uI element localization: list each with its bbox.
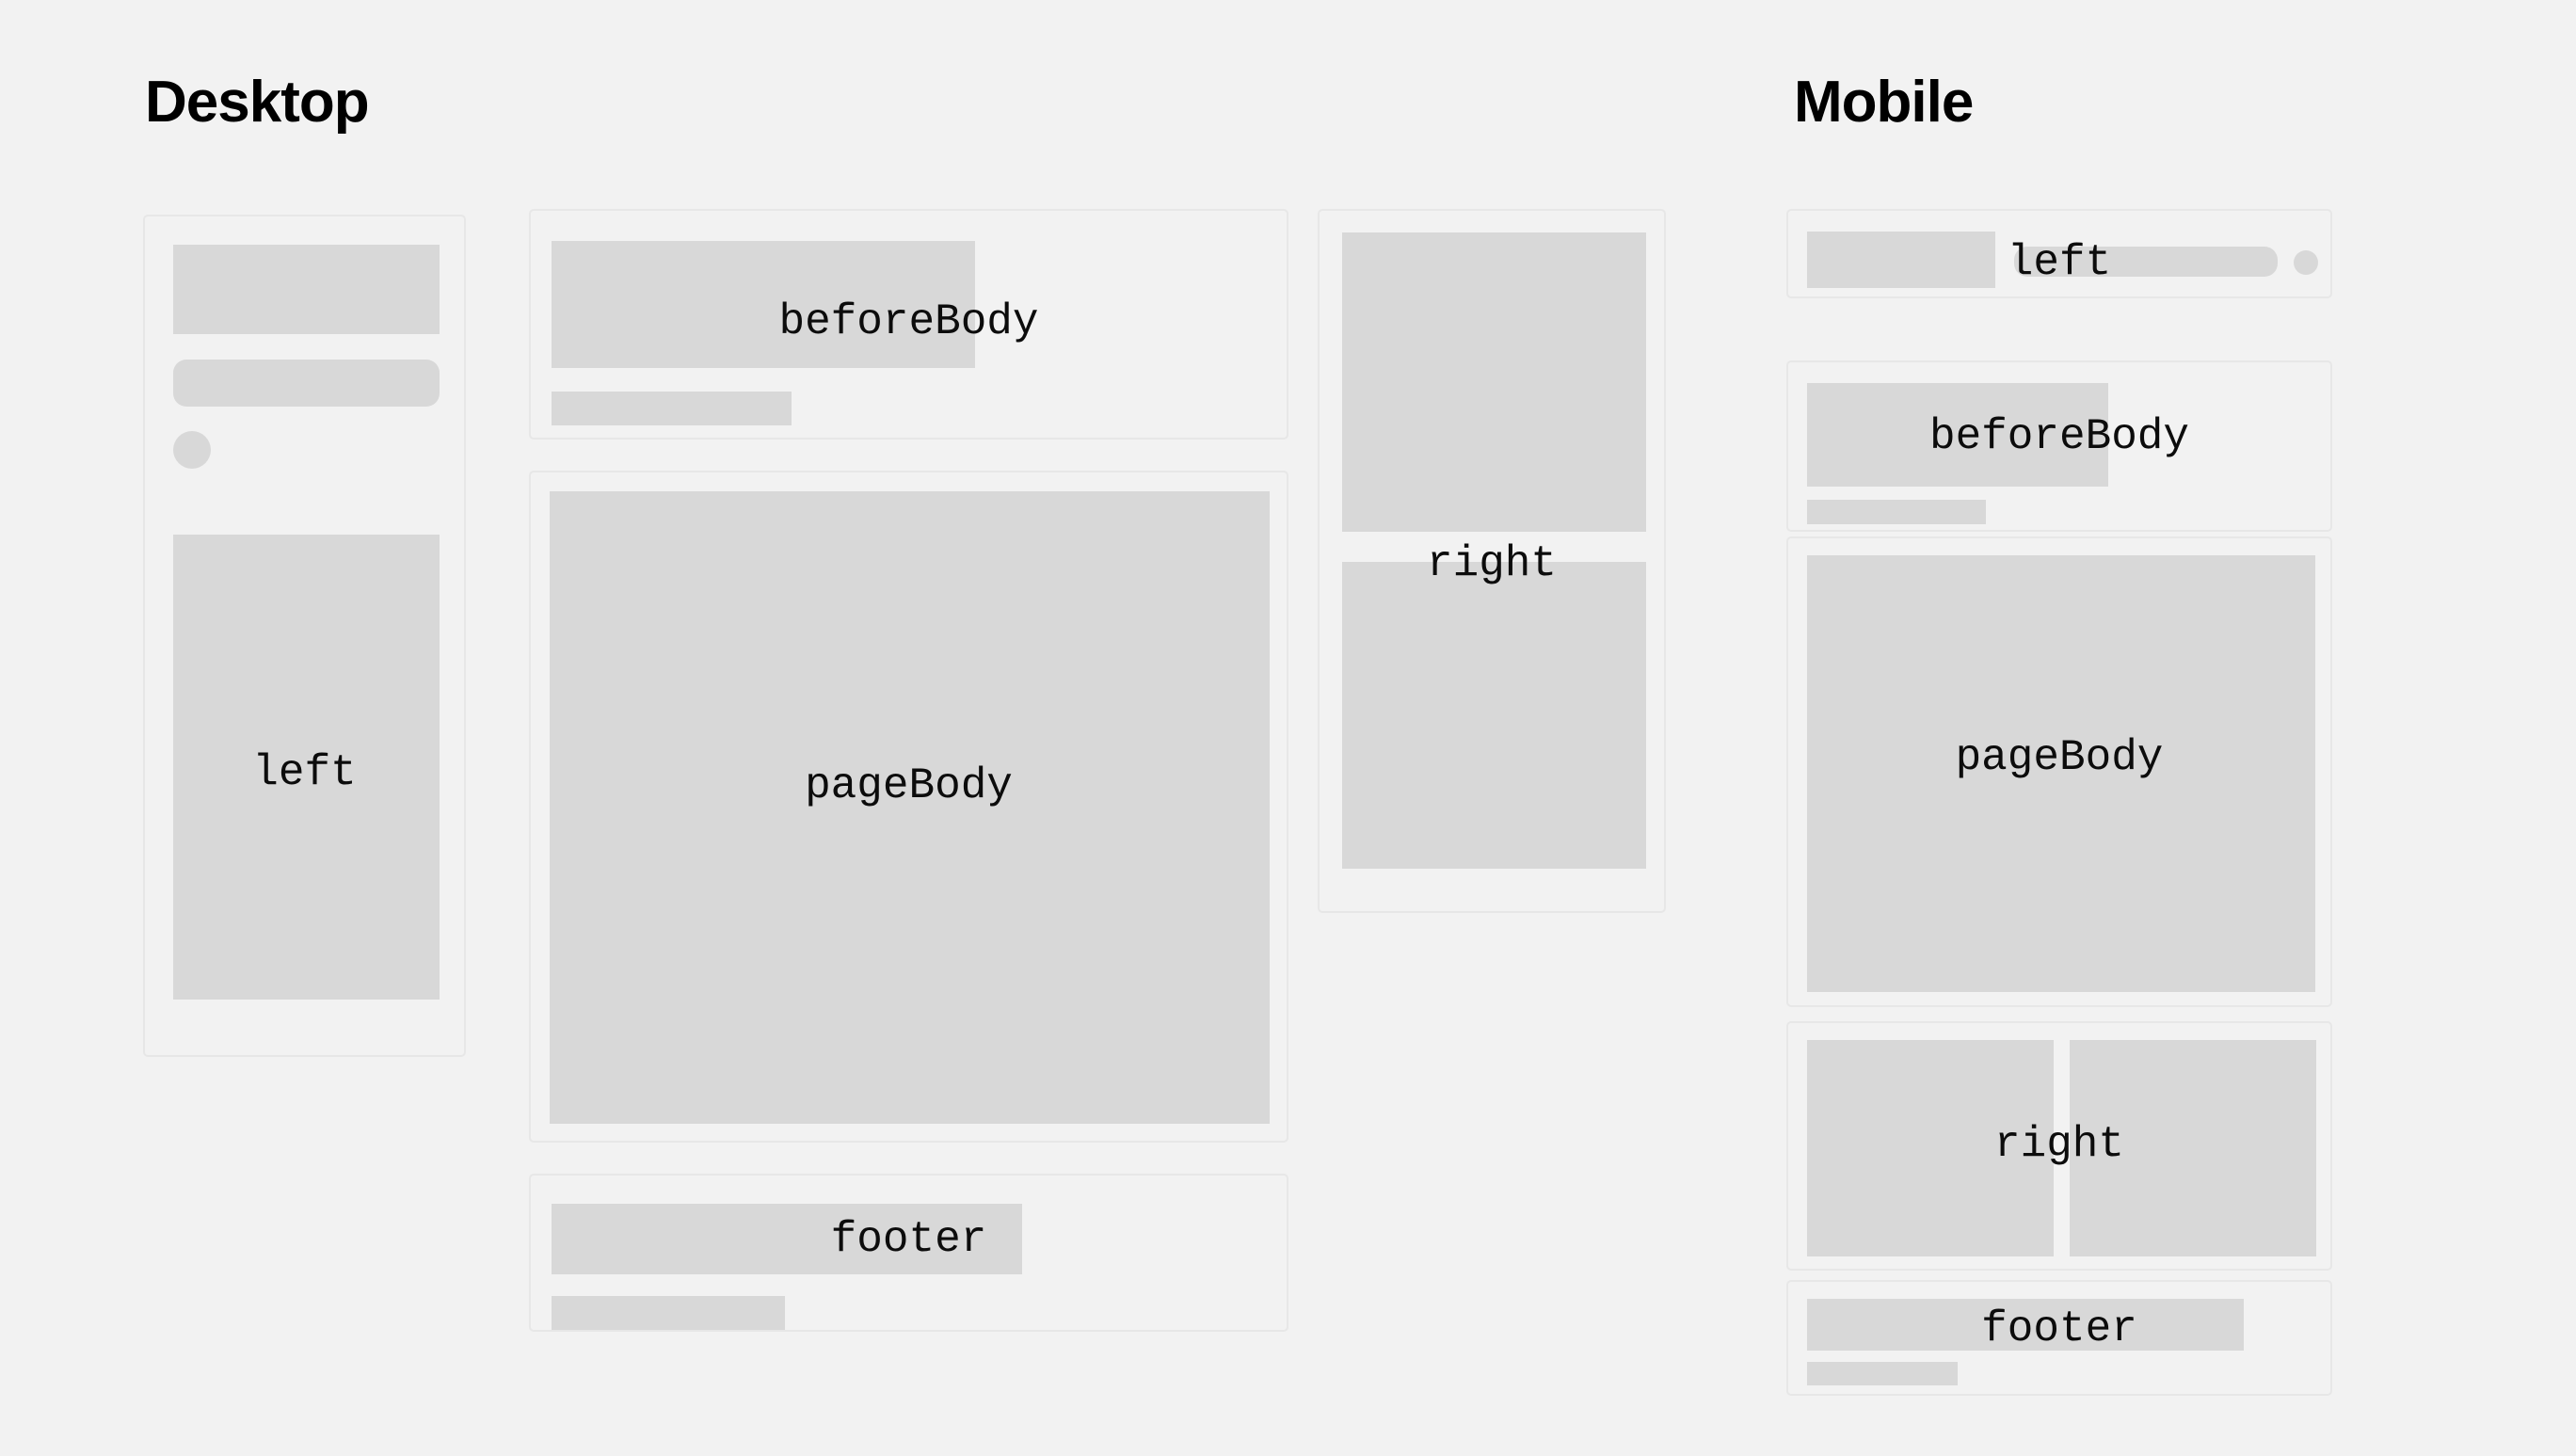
skeleton-panel	[1342, 562, 1646, 869]
skeleton-block	[173, 245, 440, 334]
wireframe-canvas: Desktop left beforeBody pageBody footer …	[0, 0, 2576, 1456]
desktop-page-body-slot[interactable]: pageBody	[529, 471, 1288, 1143]
skeleton-bar	[2014, 247, 2278, 277]
skeleton-block	[552, 241, 975, 368]
skeleton-panel	[1807, 555, 2315, 992]
skeleton-panel	[550, 491, 1270, 1124]
skeleton-block	[552, 1204, 1022, 1274]
mobile-footer-slot[interactable]: footer	[1786, 1280, 2332, 1396]
skeleton-block	[1807, 1299, 2244, 1351]
skeleton-panel	[173, 535, 440, 1000]
skeleton-avatar-circle	[173, 431, 211, 469]
desktop-right-slot[interactable]: right	[1318, 209, 1666, 913]
skeleton-avatar-circle	[2294, 250, 2318, 275]
mobile-right-slot[interactable]: right	[1786, 1021, 2332, 1271]
skeleton-bar	[173, 360, 440, 407]
skeleton-panel	[1342, 232, 1646, 532]
skeleton-panel	[1807, 1040, 2054, 1256]
mobile-left-slot[interactable]: left	[1786, 209, 2332, 298]
skeleton-bar	[1807, 500, 1986, 524]
skeleton-block	[1807, 383, 2108, 487]
mobile-page-body-slot[interactable]: pageBody	[1786, 536, 2332, 1007]
desktop-before-body-slot[interactable]: beforeBody	[529, 209, 1288, 440]
desktop-left-slot[interactable]: left	[143, 215, 466, 1057]
desktop-footer-slot[interactable]: footer	[529, 1174, 1288, 1332]
skeleton-bar	[552, 392, 792, 425]
skeleton-bar	[1807, 1362, 1958, 1385]
mobile-before-body-slot[interactable]: beforeBody	[1786, 360, 2332, 532]
skeleton-block	[1807, 232, 1995, 288]
desktop-section-title: Desktop	[145, 73, 369, 132]
mobile-section-title: Mobile	[1794, 73, 1973, 132]
skeleton-panel	[2070, 1040, 2316, 1256]
skeleton-bar	[552, 1296, 785, 1330]
